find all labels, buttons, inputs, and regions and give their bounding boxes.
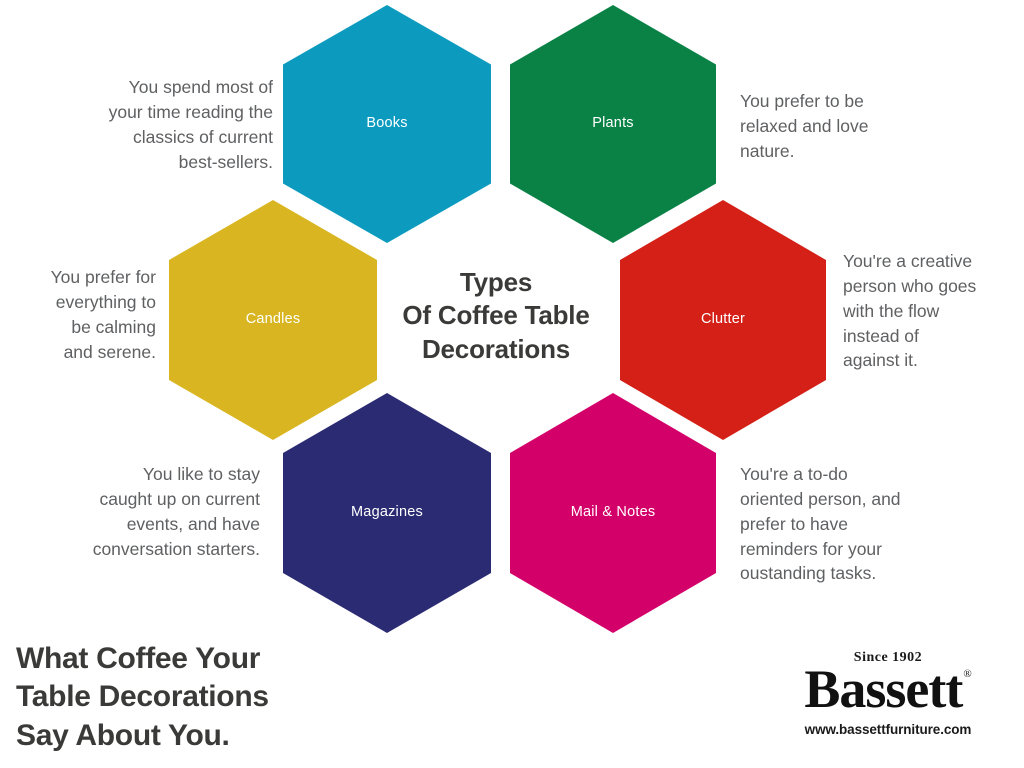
description-candles: You prefer for everything to be calming …	[10, 265, 156, 364]
hexagon-label-mail-notes: Mail & Notes	[571, 504, 656, 521]
description-magazines: You like to stay caught up on current ev…	[40, 462, 260, 561]
hexagon-magazines[interactable]: Magazines	[283, 393, 491, 633]
footer-headline: What Coffee Your Table Decorations Say A…	[16, 640, 436, 755]
infographic-canvas: Books You spend most of your time readin…	[0, 0, 1024, 768]
logo-wordmark: Bassett	[804, 662, 962, 716]
hexagon-label-plants: Plants	[592, 115, 634, 132]
description-plants: You prefer to be relaxed and love nature…	[740, 89, 990, 164]
hexagon-label-books: Books	[366, 115, 407, 132]
center-title: Types Of Coffee Table Decorations	[378, 266, 614, 366]
registered-trademark-icon: ®	[963, 668, 971, 680]
hexagon-label-magazines: Magazines	[351, 504, 423, 521]
logo-website-url[interactable]: www.bassettfurniture.com	[768, 722, 1008, 737]
description-clutter: You're a creative person who goes with t…	[843, 249, 1015, 373]
hexagon-clutter[interactable]: Clutter	[620, 200, 826, 440]
hexagon-label-candles: Candles	[246, 311, 301, 328]
hexagon-mail-notes[interactable]: Mail & Notes	[510, 393, 716, 633]
logo-wordmark-row: Bassett ®	[768, 662, 1008, 716]
description-mail-notes: You're a to-do oriented person, and pref…	[740, 462, 956, 586]
hexagon-label-clutter: Clutter	[701, 311, 745, 328]
hexagon-plants[interactable]: Plants	[510, 5, 716, 243]
description-books: You spend most of your time reading the …	[40, 75, 273, 174]
hexagon-books[interactable]: Books	[283, 5, 491, 243]
brand-logo[interactable]: Since 1902 Bassett ® www.bassettfurnitur…	[768, 650, 1008, 737]
hexagon-candles[interactable]: Candles	[169, 200, 377, 440]
